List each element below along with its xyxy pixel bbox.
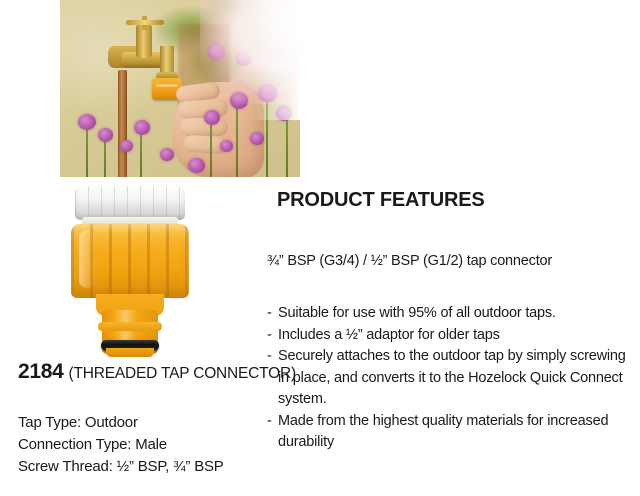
photo-flower-stem <box>286 118 288 177</box>
photo-flower <box>250 132 264 145</box>
bullet-dash: - <box>267 346 278 368</box>
photo-copper-pipe <box>118 70 127 177</box>
photo-flower <box>120 140 133 152</box>
feature-text: Suitable for use with 95% of all outdoor… <box>278 303 627 325</box>
photo-flower <box>258 84 277 102</box>
spec-connection-type: Connection Type: Male <box>18 434 224 456</box>
photo-flower-stem <box>104 138 106 177</box>
product-flare <box>98 322 162 331</box>
product-tip <box>106 348 154 357</box>
feature-item: - Made from the highest quality material… <box>267 411 627 454</box>
photo-flower-stem <box>266 96 268 177</box>
photo-flower-stem <box>210 120 212 177</box>
photo-flower-stem <box>140 130 142 177</box>
feature-item: - Securely attaches to the outdoor tap b… <box>267 346 627 411</box>
photo-flower <box>188 158 205 173</box>
photo-flower <box>98 128 113 142</box>
photo-flower <box>208 44 225 60</box>
photo-flower-stem <box>236 104 238 177</box>
feature-text: Securely attaches to the outdoor tap by … <box>278 346 627 411</box>
photo-flower <box>266 40 284 57</box>
lifestyle-photo <box>60 0 300 177</box>
product-title: 2184(THREADED TAP CONNECTOR) <box>18 360 296 384</box>
spec-tap-type: Tap Type: Outdoor <box>18 412 224 434</box>
product-spec-list: Tap Type: Outdoor Connection Type: Male … <box>18 412 224 478</box>
features-list: - Suitable for use with 95% of all outdo… <box>267 303 627 454</box>
product-image <box>68 186 192 358</box>
spec-screw-thread: Screw Thread: ½” BSP, ¾” BSP <box>18 456 224 478</box>
product-white-cap <box>75 186 185 220</box>
features-heading: PRODUCT FEATURES <box>277 189 485 212</box>
photo-flower <box>134 120 150 135</box>
photo-flower <box>236 52 251 66</box>
photo-flower <box>276 106 292 121</box>
photo-flower-stem <box>86 126 88 177</box>
product-ribbed-collar <box>71 224 189 298</box>
bullet-dash: - <box>267 411 278 433</box>
feature-item: - Includes a ½” adaptor for older taps <box>267 325 627 347</box>
feature-text: Includes a ½” adaptor for older taps <box>278 325 627 347</box>
photo-tap-handle <box>126 20 164 25</box>
features-spec-line: ¾” BSP (G3/4) / ½” BSP (G1/2) tap connec… <box>267 253 552 269</box>
product-name: (THREADED TAP CONNECTOR) <box>69 365 296 382</box>
bullet-dash: - <box>267 303 278 325</box>
photo-flower <box>286 62 300 77</box>
feature-text: Made from the highest quality materials … <box>278 411 627 454</box>
bullet-dash: - <box>267 325 278 347</box>
photo-flower <box>160 148 174 161</box>
photo-flower <box>230 92 248 109</box>
feature-item: - Suitable for use with 95% of all outdo… <box>267 303 627 325</box>
photo-flower <box>78 114 96 130</box>
photo-finger <box>177 98 228 119</box>
product-code: 2184 <box>18 360 64 383</box>
photo-flower <box>204 110 220 125</box>
photo-flower <box>220 140 233 152</box>
